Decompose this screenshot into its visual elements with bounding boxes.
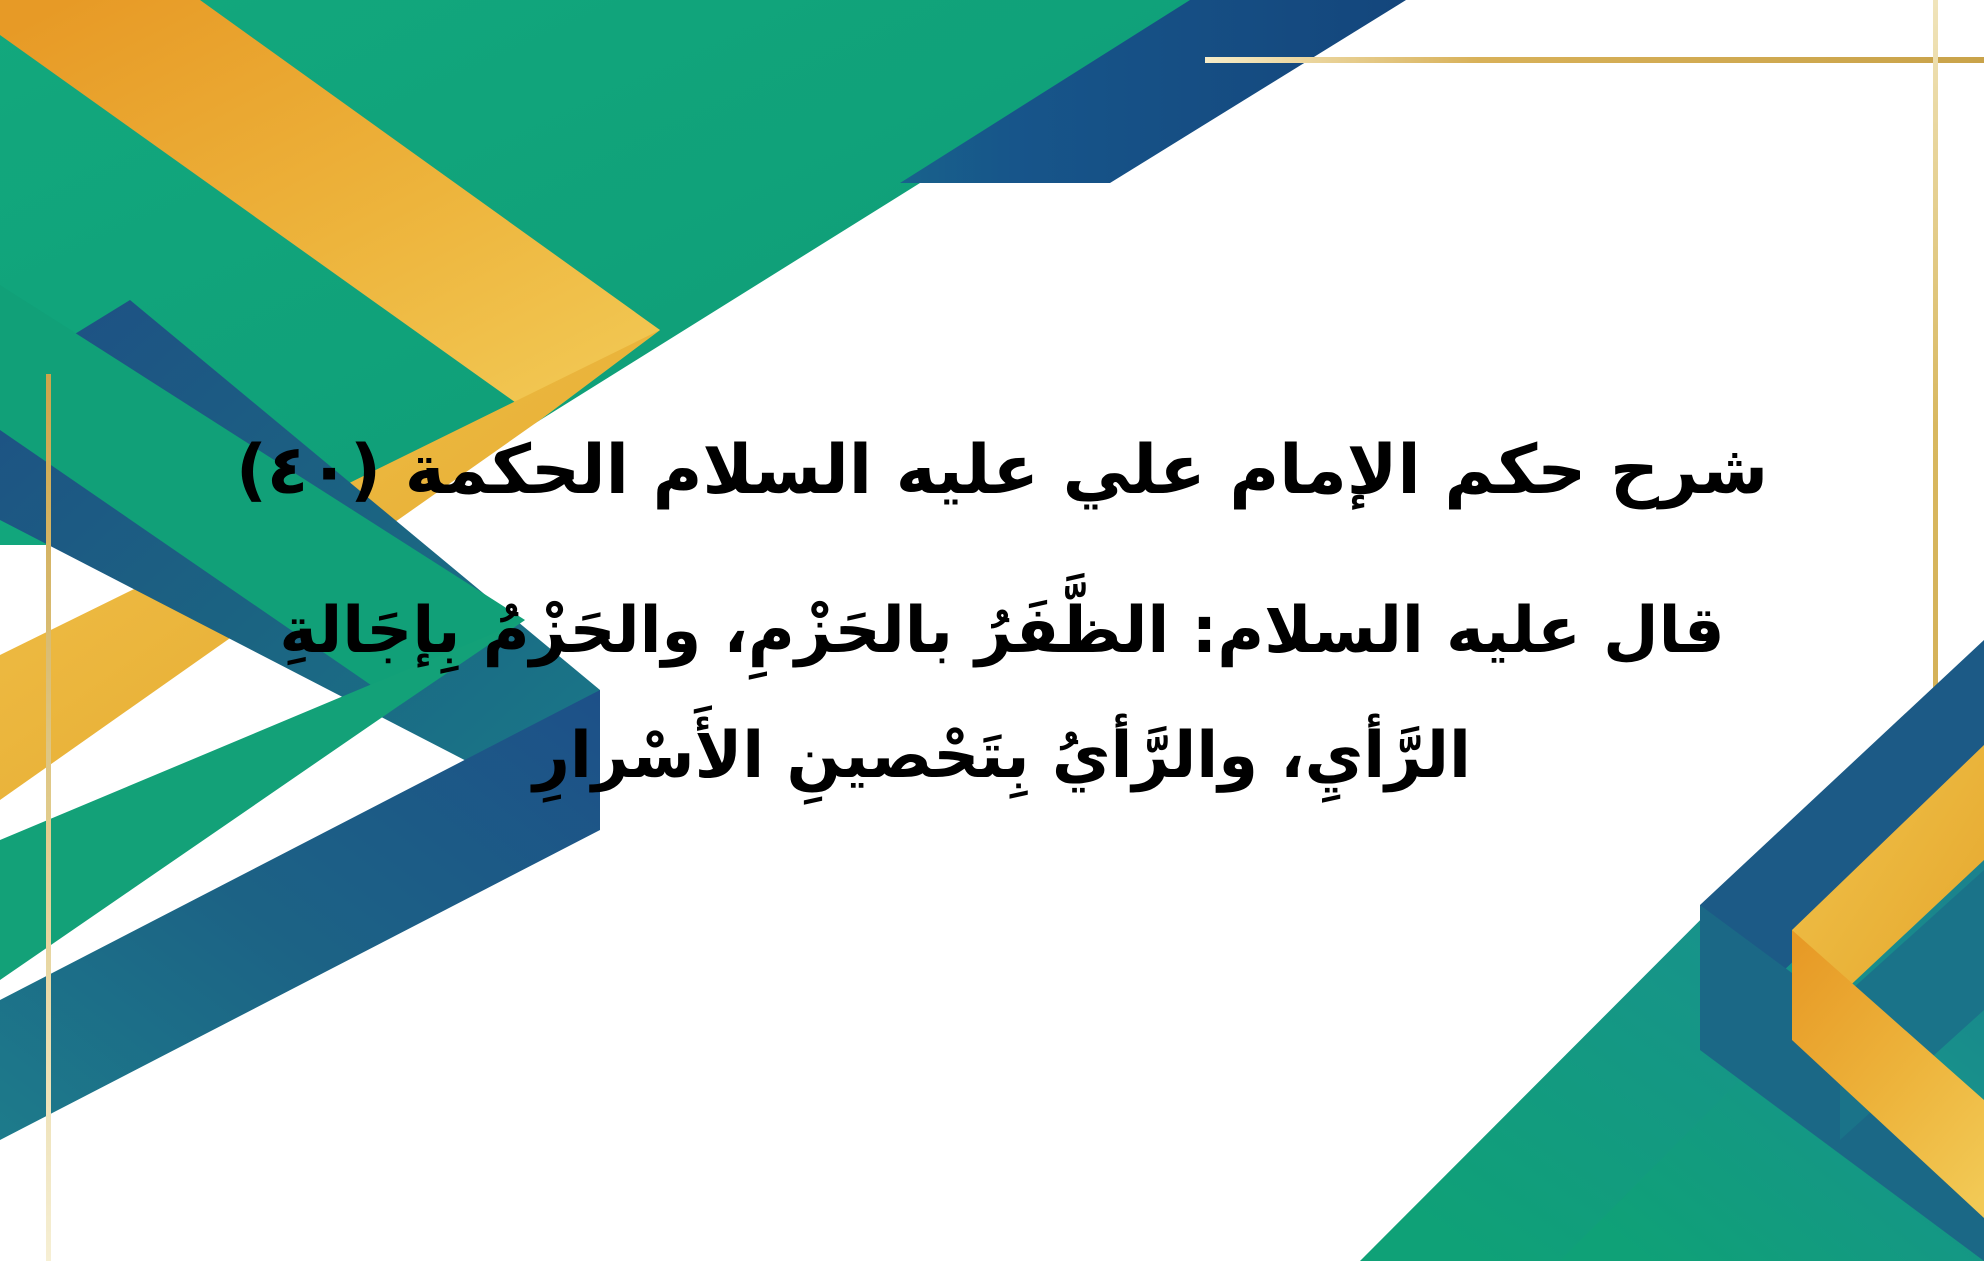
text-block: شرح حكم الإمام علي عليه السلام الحكمة (٤…: [230, 422, 1774, 818]
slide-content: شرح حكم الإمام علي عليه السلام الحكمة (٤…: [0, 0, 1984, 1261]
hadith-line-2: الرَّأيِ، والرَّأيُ بِتَحْصينِ الأَسْرار…: [230, 694, 1774, 819]
hadith-line-1: قال عليه السلام: الظَّفَرُ بالحَزْمِ، وا…: [230, 569, 1774, 694]
page-title: شرح حكم الإمام علي عليه السلام الحكمة (٤…: [230, 422, 1774, 521]
slide-canvas: شرح حكم الإمام علي عليه السلام الحكمة (٤…: [0, 0, 1984, 1261]
